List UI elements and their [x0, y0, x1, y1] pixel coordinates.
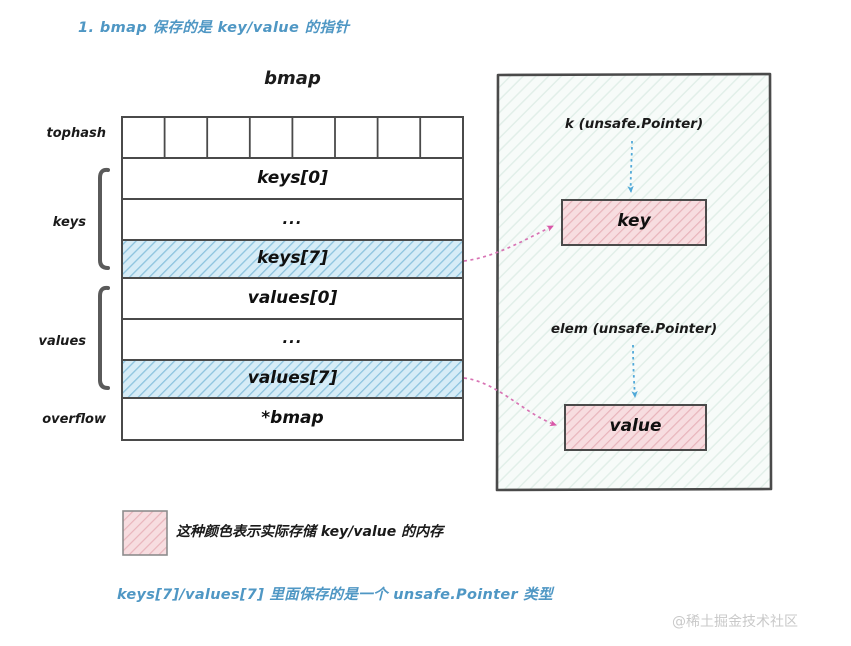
footer-note: keys[7]/values[7] 里面保存的是一个 unsafe.Pointe… — [117, 583, 553, 604]
label-elem-pointer: elem (unsafe.Pointer) — [497, 321, 771, 337]
legend-pink-swatch — [123, 511, 167, 555]
bmap-table — [122, 117, 463, 440]
row-label-keys-7: keys[7] — [122, 248, 463, 268]
label-values: values — [10, 334, 86, 349]
group-brackets — [92, 168, 110, 388]
key-box-label: key — [562, 211, 706, 231]
row-label-values-ellipsis: ... — [122, 329, 463, 347]
values-bracket — [100, 288, 108, 388]
row-label-keys-0: keys[0] — [122, 168, 463, 188]
keys-bracket — [100, 170, 108, 268]
watermark: @稀土掘金技术社区 — [672, 611, 798, 631]
label-keys: keys — [18, 215, 86, 230]
tophash-row — [122, 117, 463, 158]
label-overflow: overflow — [6, 412, 106, 427]
bmap-heading: bmap — [122, 68, 463, 89]
value-box-label: value — [565, 416, 706, 436]
label-tophash: tophash — [18, 126, 106, 141]
legend-description: 这种颜色表示实际存储 key/value 的内存 — [176, 521, 443, 541]
page-title: 1. bmap 保存的是 key/value 的指针 — [78, 16, 349, 37]
row-label-overflow-bmap: *bmap — [122, 408, 463, 428]
row-label-keys-ellipsis: ... — [122, 210, 463, 228]
row-label-values-0: values[0] — [122, 288, 463, 308]
row-label-values-7: values[7] — [122, 368, 463, 388]
label-k-pointer: k (unsafe.Pointer) — [497, 116, 771, 132]
